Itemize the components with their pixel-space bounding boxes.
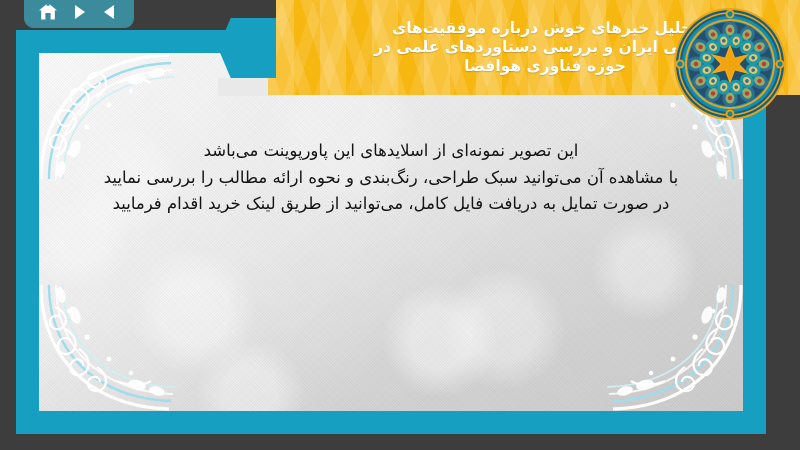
next-button[interactable] [66, 0, 92, 24]
mandala-medallion-icon [672, 6, 788, 122]
body-line-2: با مشاهده آن می‌توانید سبک طراحی، رنگ‌بن… [56, 165, 726, 192]
title-line-1: تحلیل خبرهای خوش درباره موفقیت‌های [374, 19, 716, 38]
slide-body-text: این تصویر نمونه‌ای از اسلایدهای این پاور… [56, 138, 726, 218]
body-line-1: این تصویر نمونه‌ای از اسلایدهای این پاور… [56, 138, 726, 165]
chevron-notch [218, 0, 276, 18]
triangle-right-icon [70, 3, 88, 21]
home-icon [37, 2, 59, 22]
body-line-3: در صورت تمایل به دریافت فایل کامل، می‌تو… [56, 191, 726, 218]
previous-button[interactable] [97, 0, 123, 24]
triangle-left-icon [101, 3, 119, 21]
slide-viewer: این تصویر نمونه‌ای از اسلایدهای این پاور… [0, 0, 800, 450]
navigation-bar [24, 0, 134, 28]
home-button[interactable] [35, 0, 61, 24]
arabesque-corner-icon [39, 283, 187, 411]
title-line-3: حوزه فناوری هوافضا [374, 57, 716, 76]
arabesque-corner-icon [595, 283, 743, 411]
title-line-2: فضایی ایران و بررسی دستاوردهای علمی در [374, 38, 716, 57]
